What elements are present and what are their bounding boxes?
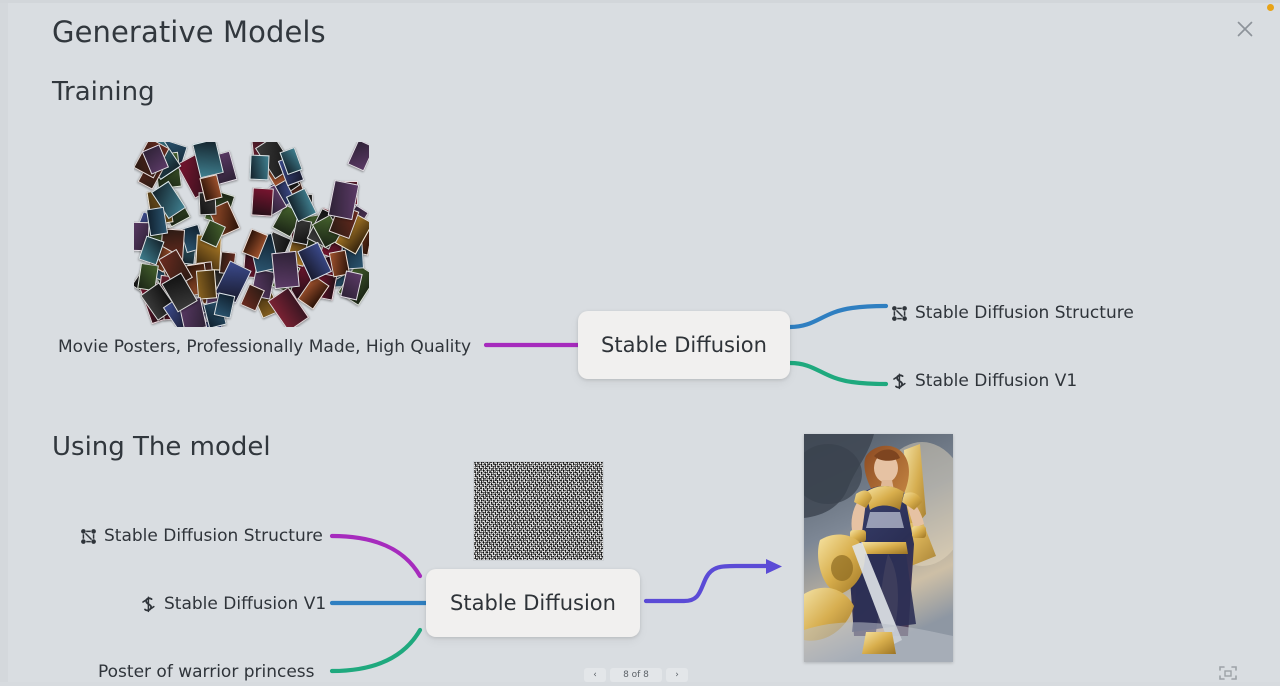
diffusion-icon	[140, 596, 157, 613]
close-icon[interactable]	[1232, 16, 1258, 42]
left-rail	[0, 0, 8, 682]
training-output-structure[interactable]: Stable Diffusion Structure	[891, 303, 1134, 323]
expand-icon[interactable]	[1216, 664, 1240, 682]
movie-poster-collage	[134, 142, 369, 327]
using-model-node[interactable]: Stable Diffusion	[426, 569, 640, 637]
section-heading-training: Training	[52, 77, 155, 107]
pagination-next-button[interactable]: ›	[666, 668, 688, 682]
page-title: Generative Models	[52, 15, 326, 49]
using-input-prompt[interactable]: Poster of warrior princess	[98, 662, 315, 682]
warrior-princess-art	[804, 434, 953, 662]
using-input-prompt-label: Poster of warrior princess	[98, 662, 315, 682]
training-model-node-label: Stable Diffusion	[601, 333, 767, 357]
using-input-structure-label: Stable Diffusion Structure	[104, 526, 323, 546]
status-dot	[1267, 4, 1274, 11]
training-model-node[interactable]: Stable Diffusion	[578, 311, 790, 379]
training-output-structure-label: Stable Diffusion Structure	[915, 303, 1134, 323]
using-model-node-label: Stable Diffusion	[450, 591, 616, 615]
using-input-v1[interactable]: Stable Diffusion V1	[140, 594, 326, 614]
structure-icon	[80, 528, 97, 545]
using-input-structure[interactable]: Stable Diffusion Structure	[80, 526, 323, 546]
training-input-label: Movie Posters, Professionally Made, High…	[58, 337, 471, 357]
section-heading-using: Using The model	[52, 432, 271, 462]
close-glyph	[1232, 16, 1258, 42]
pagination-count: 8 of 8	[610, 668, 662, 682]
noise-latent-image	[474, 462, 603, 560]
structure-icon	[891, 305, 908, 322]
slide-canvas: Generative Models Training Using The mod…	[0, 0, 1280, 682]
expand-glyph	[1216, 664, 1240, 682]
using-input-v1-label: Stable Diffusion V1	[164, 594, 326, 614]
training-output-v1[interactable]: Stable Diffusion V1	[891, 371, 1077, 391]
warrior-princess-poster	[804, 434, 953, 662]
training-output-v1-label: Stable Diffusion V1	[915, 371, 1077, 391]
diffusion-icon	[891, 373, 908, 390]
pagination[interactable]: ‹ 8 of 8 ›	[584, 668, 688, 682]
top-strip	[0, 0, 1280, 3]
pagination-prev-button[interactable]: ‹	[584, 668, 606, 682]
